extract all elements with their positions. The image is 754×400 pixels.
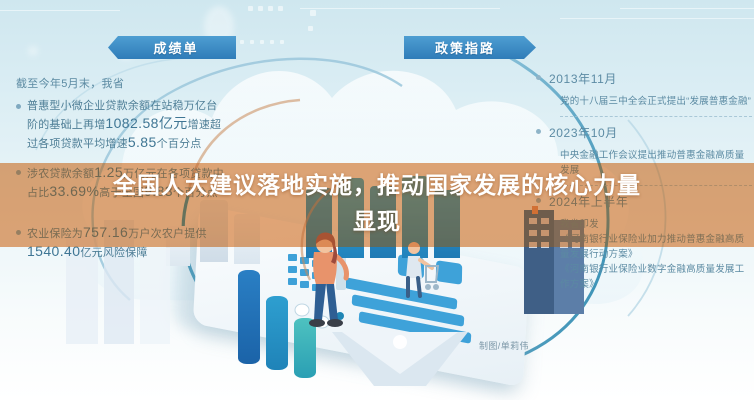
stat-1-unit-2: 个百分点 (157, 138, 202, 150)
timeline-date-2: 2023年10月 (536, 124, 752, 141)
banner-policy-guide: 政策指路 (404, 36, 536, 59)
timeline-body-1: 党的十八届三中全会正式提出“发展普惠金融” (536, 94, 752, 109)
stat-1-unit-1: 亿元 (159, 115, 188, 131)
left-stat-item-1: 普惠型小微企业贷款余额在站稳万亿台阶的基础上再增1082.58亿元增速超过各项贷… (16, 98, 226, 153)
headline-text: 全国人大建议落地实施，推动国家发展的核心力量 显现 (0, 168, 754, 240)
infographic-image: 截至今年5月末，我省 普惠型小微企业贷款余额在站稳万亿台阶的基础上再增1082.… (0, 0, 754, 400)
headline-line-1: 全国人大建议落地实施，推动国家发展的核心力量 (0, 168, 754, 204)
stat-3-unit-2: 亿元风险保障 (80, 247, 147, 259)
bar-chart-cylinder-1 (238, 270, 260, 364)
illustration-credit: 制图/单莉伟 (479, 339, 529, 352)
person-with-cart-illustration (396, 238, 442, 308)
person-illustration (296, 228, 354, 336)
envelope-shape (330, 330, 470, 400)
stat-1-value-1: 1082.58 (105, 115, 158, 131)
stat-1-value-2: 5.85 (128, 134, 157, 150)
stat-3-value-2: 1540.40 (27, 243, 80, 259)
timeline-separator-1 (560, 116, 752, 117)
left-panel-lead: 截至今年5月末，我省 (16, 76, 226, 93)
timeline-item-1: 2013年11月 党的十八届三中全会正式提出“发展普惠金融” (536, 70, 752, 109)
banner-scorecard: 成绩单 (108, 36, 236, 59)
bar-chart-cylinder-2 (266, 296, 288, 370)
timeline-date-1: 2013年11月 (536, 70, 752, 87)
headline-line-2: 显现 (0, 204, 754, 240)
